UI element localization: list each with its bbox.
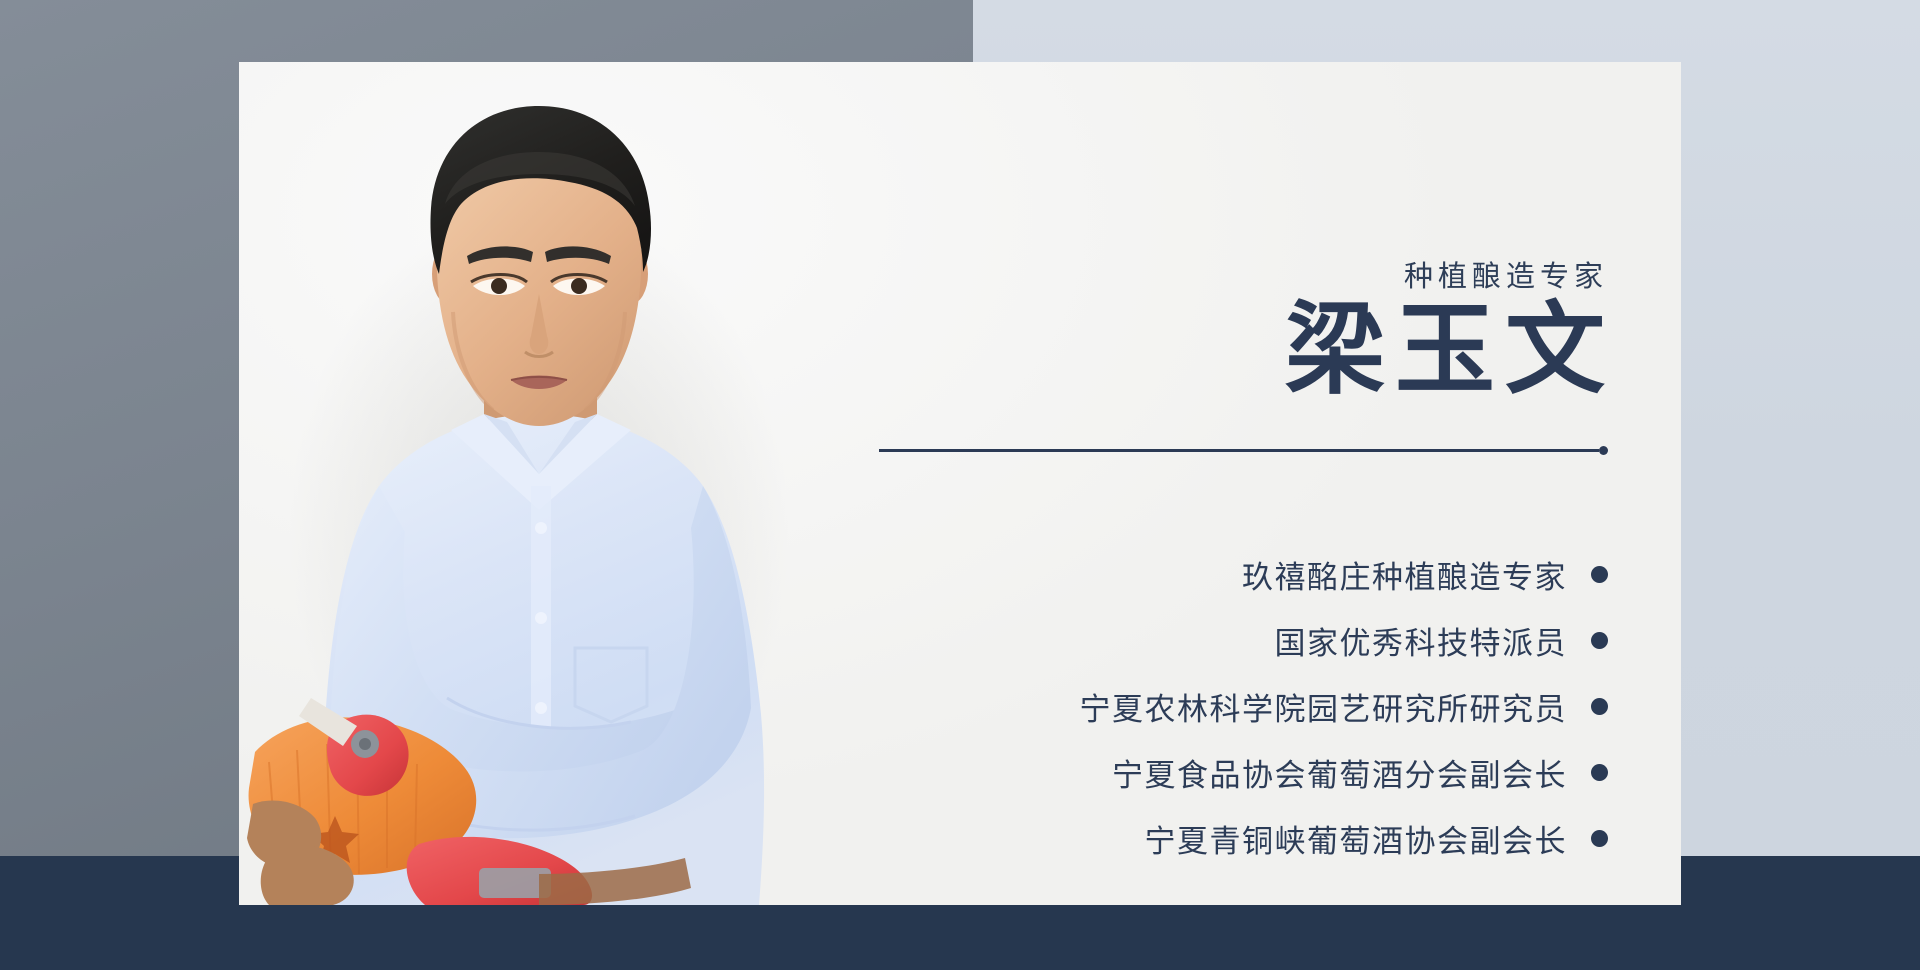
portrait-illustration [239,62,879,905]
divider-end-dot [1599,446,1608,455]
bullet-dot-icon [1591,566,1608,583]
bullet-dot-icon [1591,632,1608,649]
credential-label: 宁夏青铜峡葡萄酒协会副会长 [1145,816,1568,861]
bullet-dot-icon [1591,698,1608,715]
credential-label: 玖禧酩庄种植酿造专家 [1242,552,1567,597]
divider-line [879,449,1599,452]
list-item: 宁夏青铜峡葡萄酒协会副会长 [888,805,1608,871]
credential-label: 宁夏农林科学院园艺研究所研究员 [1080,684,1568,729]
bullet-dot-icon [1591,830,1608,847]
divider [879,446,1608,454]
profile-card: 种植酿造专家 梁玉文 玖禧酩庄种植酿造专家 国家优秀科技特派员 宁夏农林科学院园… [239,62,1681,905]
list-item: 国家优秀科技特派员 [888,607,1608,673]
expert-subtitle: 种植酿造专家 [1404,253,1608,295]
profile-text-column: 种植酿造专家 梁玉文 玖禧酩庄种植酿造专家 国家优秀科技特派员 宁夏农林科学院园… [879,62,1681,905]
bullet-dot-icon [1591,764,1608,781]
expert-name: 梁玉文 [1285,298,1615,404]
credential-label: 宁夏食品协会葡萄酒分会副会长 [1112,750,1567,795]
poster-canvas: 种植酿造专家 梁玉文 玖禧酩庄种植酿造专家 国家优秀科技特派员 宁夏农林科学院园… [0,0,1920,970]
list-item: 宁夏农林科学院园艺研究所研究员 [888,673,1608,739]
credential-label: 国家优秀科技特派员 [1275,618,1568,663]
credentials-list: 玖禧酩庄种植酿造专家 国家优秀科技特派员 宁夏农林科学院园艺研究所研究员 宁夏食… [888,541,1608,871]
list-item: 玖禧酩庄种植酿造专家 [888,541,1608,607]
list-item: 宁夏食品协会葡萄酒分会副会长 [888,739,1608,805]
portrait-photo [239,62,879,905]
